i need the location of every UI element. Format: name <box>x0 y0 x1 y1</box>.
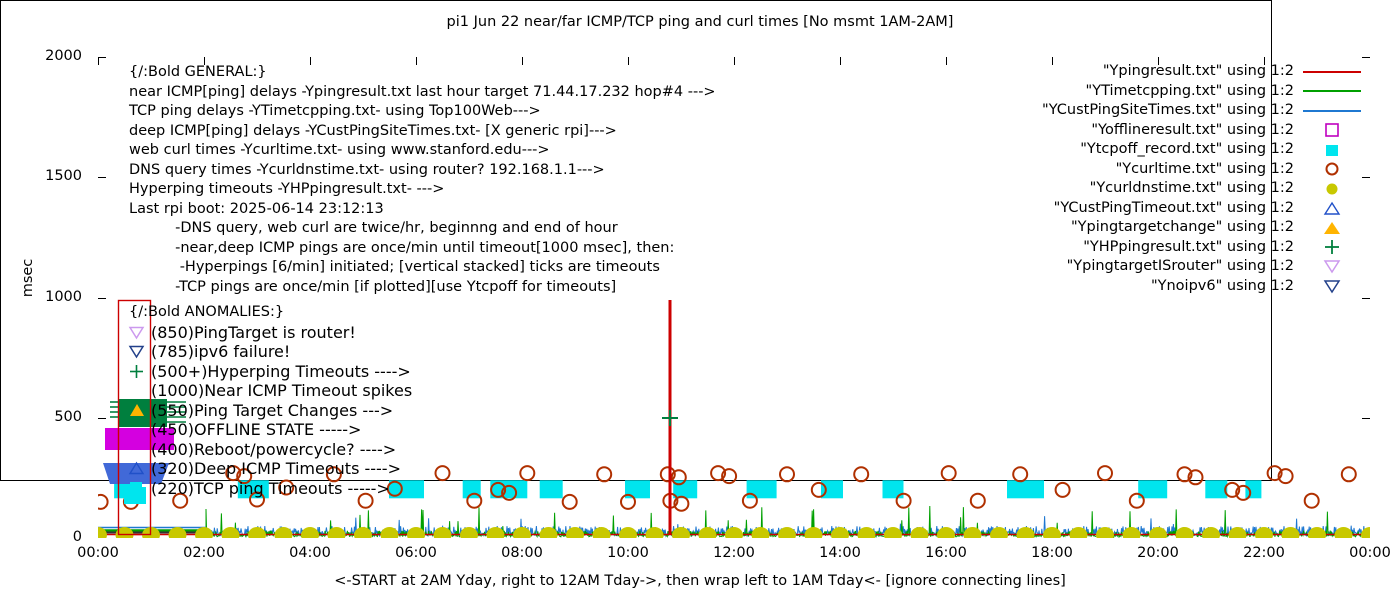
legend: "Ypingresult.txt" using 1:2 "YTimetcppin… <box>1042 62 1362 296</box>
filled-circle-icon <box>1302 179 1362 199</box>
general-line-9: -near,deep ICMP pings are once/min until… <box>129 239 716 259</box>
dns-time-markers <box>98 527 1370 538</box>
general-heading: {/:Bold GENERAL:} <box>129 63 716 83</box>
x-tick-1000: 10:00 <box>588 545 668 561</box>
legend-label-yofflineresult: "Yofflineresult.txt" using 1:2 <box>1091 121 1302 141</box>
x-tick-2000: 20:00 <box>1118 545 1198 561</box>
y-axis-label: msec <box>20 238 36 318</box>
anomaly-label-offline: (450)OFFLINE STATE -----> <box>151 420 361 439</box>
legend-label-ycustpingtimeout: "YCustPingTimeout.txt" using 1:2 <box>1054 199 1302 219</box>
general-line-7: Last rpi boot: 2025-06-14 23:12:13 <box>129 200 716 220</box>
open-square-icon <box>1302 121 1362 141</box>
legend-item-ypingtargetchange[interactable]: "Ypingtargetchange" using 1:2 <box>1042 218 1362 238</box>
general-line-5: DNS query times -Ycurldnstime.txt- using… <box>129 161 716 181</box>
anomaly-row-near-icmp-spikes: (1000)Near ICMP Timeout spikes <box>129 381 412 401</box>
y-tick-2000: 2000 <box>0 48 82 64</box>
x-tick-0400: 04:00 <box>270 545 350 561</box>
legend-label-ycurltime: "Ycurltime.txt" using 1:2 <box>1116 160 1302 180</box>
anomaly-row-offline: (450)OFFLINE STATE -----> <box>129 420 412 440</box>
general-line-11: -TCP pings are once/min [if plotted][use… <box>129 278 716 298</box>
legend-label-ytcpoff-record: "Ytcpoff_record.txt" using 1:2 <box>1080 140 1302 160</box>
legend-key-line-red <box>1302 62 1362 82</box>
anomaly-label-tcp-timeout: (220)TCP ping Timeouts -----> <box>151 479 390 498</box>
legend-item-ytimetcpping[interactable]: "YTimetcpping.txt" using 1:2 <box>1042 82 1362 102</box>
anomaly-row-deep-timeout: (320)Deep ICMP Timeouts ----> <box>129 459 412 479</box>
general-line-8: -DNS query, web curl are twice/hr, begin… <box>129 219 716 239</box>
x-tick-0800: 08:00 <box>482 545 562 561</box>
legend-item-ynoipv6[interactable]: "Ynoipv6" using 1:2 <box>1042 277 1362 297</box>
anomaly-row-tcp-timeout: (220)TCP ping Timeouts -----> <box>129 479 412 499</box>
y-tick-500: 500 <box>0 409 82 425</box>
open-triangle-down-icon <box>1302 277 1362 297</box>
legend-item-ycurltime[interactable]: "Ycurltime.txt" using 1:2 <box>1042 160 1362 180</box>
general-line-1: near ICMP[ping] delays -Ypingresult.txt … <box>129 83 716 103</box>
legend-item-yhppingresult[interactable]: "YHPpingresult.txt" using 1:2 <box>1042 238 1362 258</box>
x-tick-1800: 18:00 <box>1012 545 1092 561</box>
general-line-2: TCP ping delays -YTimetcpping.txt- using… <box>129 102 716 122</box>
open-triangle-up-icon <box>1302 199 1362 219</box>
general-line-10: -Hyperpings [6/min] initiated; [vertical… <box>129 258 716 278</box>
filled-square-icon <box>129 443 151 533</box>
filled-triangle-up-icon <box>1302 218 1362 238</box>
hyperping-plus-marker <box>662 410 678 426</box>
general-annotation-block: {/:Bold GENERAL:} near ICMP[ping] delays… <box>129 63 716 297</box>
x-tick-0600: 06:00 <box>376 545 456 561</box>
anomaly-label-reboot: (400)Reboot/powercycle? ----> <box>151 440 396 459</box>
anomaly-label-deep-timeout: (320)Deep ICMP Timeouts ----> <box>151 459 401 478</box>
y-tick-1500: 1500 <box>0 168 82 184</box>
legend-label-ypingresult: "Ypingresult.txt" using 1:2 <box>1103 62 1302 82</box>
legend-label-ypingtargetchange: "Ypingtargetchange" using 1:2 <box>1071 218 1302 238</box>
legend-label-yhppingresult: "YHPpingresult.txt" using 1:2 <box>1083 238 1302 258</box>
y-tick-0: 0 <box>0 529 82 545</box>
legend-label-ytimetcpping: "YTimetcpping.txt" using 1:2 <box>1086 82 1302 102</box>
x-tick-0000a: 00:00 <box>58 545 138 561</box>
legend-item-ypingtargetisrouter[interactable]: "YpingtargetISrouter" using 1:2 <box>1042 257 1362 277</box>
plus-icon <box>1302 238 1362 258</box>
page-title: pi1 Jun 22 near/far ICMP/TCP ping and cu… <box>0 14 1400 30</box>
legend-item-ycustpingtimeout[interactable]: "YCustPingTimeout.txt" using 1:2 <box>1042 199 1362 219</box>
anomaly-row-target-change: (550)Ping Target Changes ---> <box>129 401 412 421</box>
x-axis-caption: <-START at 2AM Yday, right to 12AM Tday-… <box>0 573 1400 589</box>
anomaly-row-ipv6: (785)ipv6 failure! <box>129 342 412 362</box>
legend-item-ycustpingsitetimes[interactable]: "YCustPingSiteTimes.txt" using 1:2 <box>1042 101 1362 121</box>
legend-item-ytcpoff-record[interactable]: "Ytcpoff_record.txt" using 1:2 <box>1042 140 1362 160</box>
anomaly-label-ipv6: (785)ipv6 failure! <box>151 342 290 361</box>
general-line-3: deep ICMP[ping] delays -YCustPingSiteTim… <box>129 122 716 142</box>
legend-label-ycurldnstime: "Ycurldnstime.txt" using 1:2 <box>1090 179 1302 199</box>
anomaly-label-hyperping: (500+)Hyperping Timeouts ----> <box>151 362 411 381</box>
legend-label-ynoipv6: "Ynoipv6" using 1:2 <box>1151 277 1302 297</box>
anomaly-row-router: (850)PingTarget is router! <box>129 323 412 343</box>
x-tick-1600: 16:00 <box>906 545 986 561</box>
anomalies-heading: {/:Bold ANOMALIES:} <box>129 303 412 323</box>
legend-item-ycurldnstime[interactable]: "Ycurldnstime.txt" using 1:2 <box>1042 179 1362 199</box>
open-circle-icon <box>1302 160 1362 180</box>
anomaly-label-near-icmp-spikes: (1000)Near ICMP Timeout spikes <box>151 381 412 400</box>
legend-key-line-green <box>1302 82 1362 102</box>
filled-square-icon <box>1302 140 1362 160</box>
x-tick-0200: 02:00 <box>164 545 244 561</box>
x-tick-0000b: 00:00 <box>1330 545 1400 561</box>
anomaly-row-reboot: (400)Reboot/powercycle? ----> <box>129 440 412 460</box>
x-tick-1200: 12:00 <box>694 545 774 561</box>
anomalies-annotation-block: {/:Bold ANOMALIES:} (850)PingTarget is r… <box>129 303 412 498</box>
open-triangle-down-icon <box>1302 257 1362 277</box>
anomaly-label-target-change: (550)Ping Target Changes ---> <box>151 401 393 420</box>
legend-item-ypingresult[interactable]: "Ypingresult.txt" using 1:2 <box>1042 62 1362 82</box>
anomaly-label-router: (850)PingTarget is router! <box>151 323 356 342</box>
legend-label-ycustpingsitetimes: "YCustPingSiteTimes.txt" using 1:2 <box>1042 101 1302 121</box>
x-tick-1400: 14:00 <box>800 545 880 561</box>
general-line-4: web curl times -Ycurltime.txt- using www… <box>129 141 716 161</box>
legend-label-ypingtargetisrouter: "YpingtargetISrouter" using 1:2 <box>1067 257 1302 277</box>
y-tick-1000: 1000 <box>0 289 82 305</box>
x-tick-2200: 22:00 <box>1224 545 1304 561</box>
legend-key-line-blue <box>1302 101 1362 121</box>
anomaly-row-hyperping: (500+)Hyperping Timeouts ----> <box>129 362 412 382</box>
legend-item-yofflineresult[interactable]: "Yofflineresult.txt" using 1:2 <box>1042 121 1362 141</box>
general-line-6: Hyperping timeouts -YHPpingresult.txt- -… <box>129 180 716 200</box>
